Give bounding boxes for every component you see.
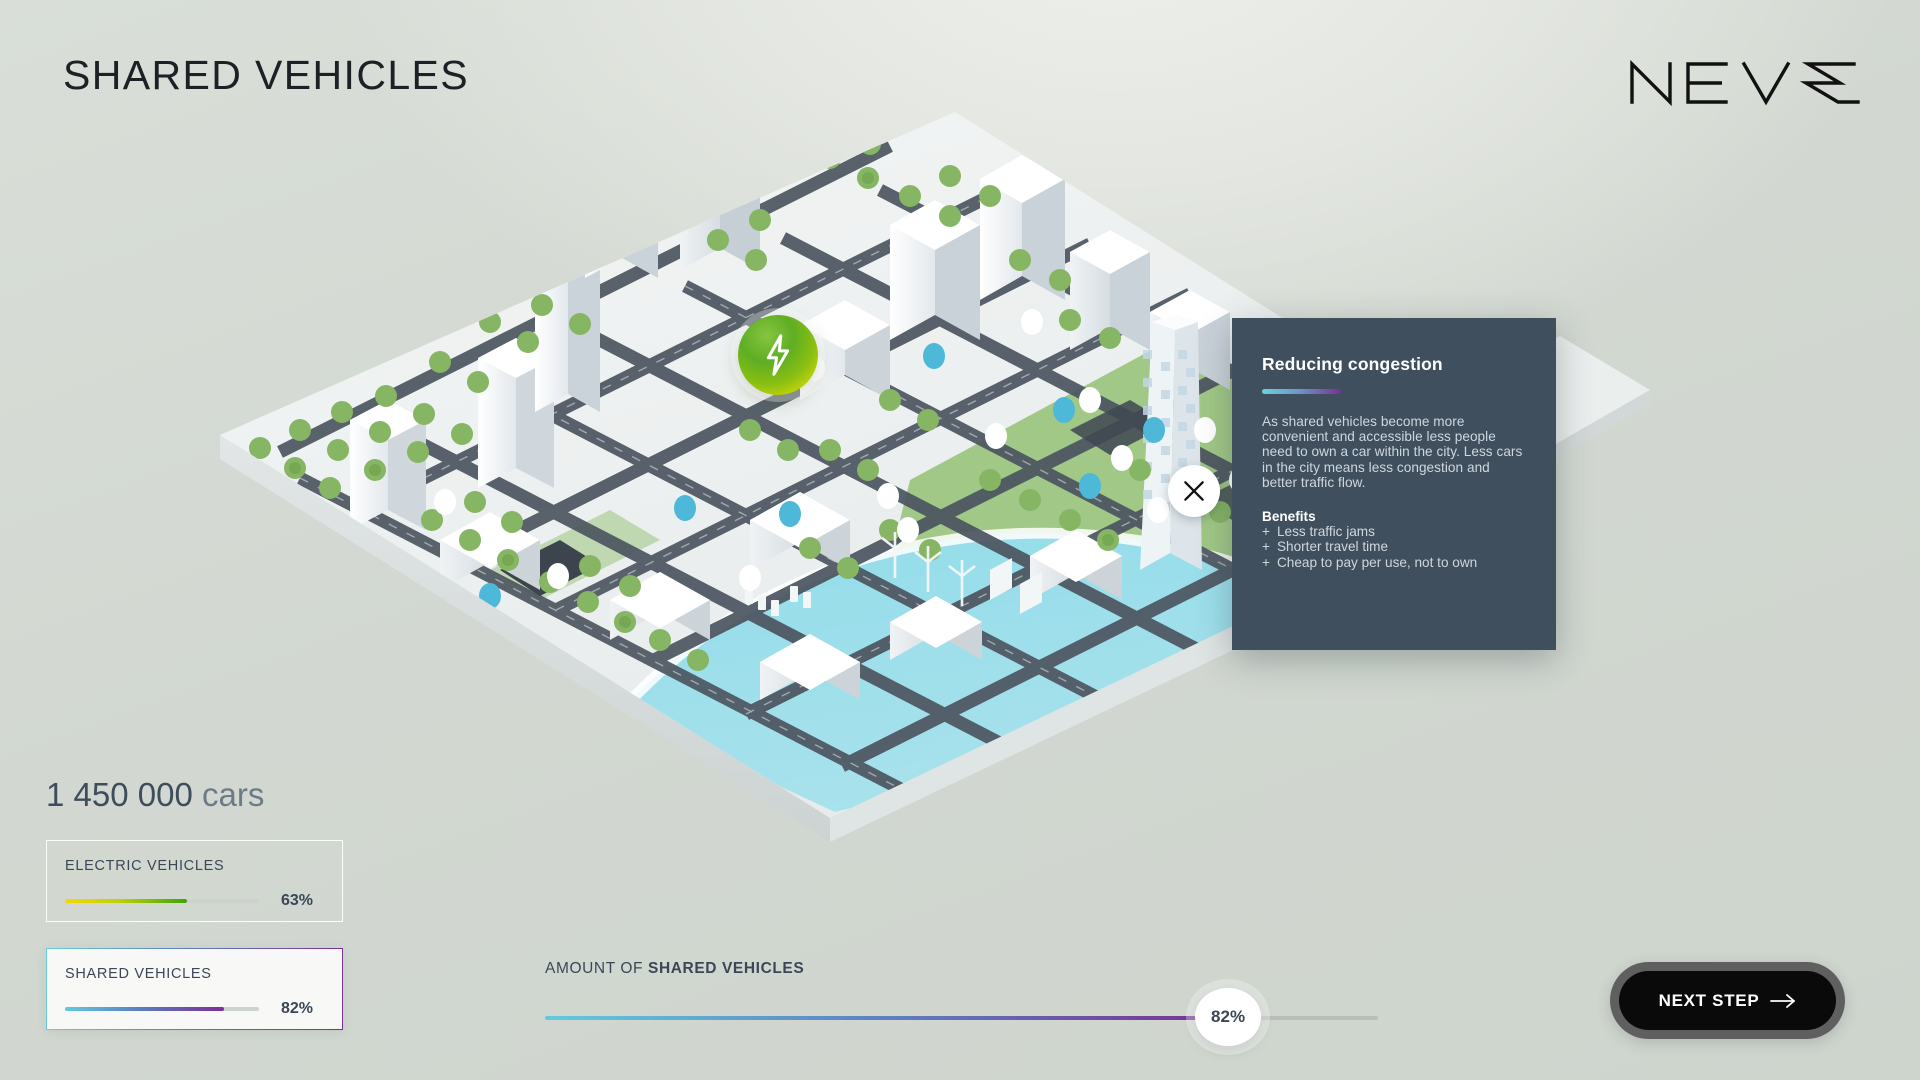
info-panel-body: As shared vehicles become more convenien… [1262, 414, 1526, 490]
plus-icon: + [1262, 555, 1270, 570]
benefit-label: Shorter travel time [1277, 539, 1388, 554]
stat-progress-fill [65, 1007, 224, 1011]
stat-percent-label: 82% [281, 1000, 313, 1018]
shared-vehicles-slider-block: AMOUNT OF SHARED VEHICLES 82% [545, 960, 1380, 1022]
benefits-list: + Less traffic jams + Shorter travel tim… [1262, 524, 1526, 570]
slider-thumb[interactable]: 82% [1195, 988, 1261, 1046]
total-cars-unit: cars [202, 776, 264, 813]
plus-icon: + [1262, 539, 1270, 554]
slider-caption-strong: SHARED VEHICLES [648, 960, 804, 977]
slider-wrap[interactable]: 82% [545, 1014, 1380, 1022]
slider-caption: AMOUNT OF SHARED VEHICLES [545, 960, 1380, 978]
plus-icon: + [1262, 524, 1270, 539]
stat-card-shared-vehicles[interactable]: SHARED VEHICLES 82% [46, 948, 343, 1030]
lightning-bolt-icon [761, 333, 795, 377]
slider-caption-prefix: AMOUNT OF [545, 960, 648, 977]
benefits-heading: Benefits [1262, 509, 1526, 524]
benefit-label: Cheap to pay per use, not to own [1277, 555, 1477, 570]
stat-bar-row: 63% [65, 892, 324, 910]
charging-station-marker[interactable] [738, 315, 818, 395]
benefit-item: + Shorter travel time [1262, 539, 1526, 554]
close-x-icon [1181, 478, 1207, 504]
info-panel-title: Reducing congestion [1262, 354, 1526, 375]
slider-fill [545, 1016, 1228, 1020]
total-cars-readout: 1 450 000 cars [46, 776, 264, 814]
page-title: SHARED VEHICLES [63, 52, 469, 99]
stat-progress-track [65, 899, 259, 903]
benefit-item: + Cheap to pay per use, not to own [1262, 555, 1526, 570]
stat-bar-row: 82% [65, 1000, 324, 1018]
stat-card-label: SHARED VEHICLES [65, 966, 324, 982]
total-cars-value: 1 450 000 [46, 776, 193, 813]
stat-progress-track [65, 1007, 259, 1011]
next-step-label: NEXT STEP [1659, 991, 1760, 1011]
next-step-button[interactable]: NEXT STEP [1610, 962, 1845, 1039]
benefit-item: + Less traffic jams [1262, 524, 1526, 539]
stat-card-label: ELECTRIC VEHICLES [65, 858, 324, 874]
info-panel-accent-bar [1262, 389, 1341, 394]
stat-card-electric-vehicles[interactable]: ELECTRIC VEHICLES 63% [46, 840, 343, 922]
close-marker-button[interactable] [1168, 465, 1220, 517]
stat-percent-label: 63% [281, 892, 313, 910]
stat-progress-fill [65, 899, 187, 903]
arrow-right-icon [1770, 993, 1796, 1009]
benefit-label: Less traffic jams [1277, 524, 1375, 539]
info-panel: Reducing congestion As shared vehicles b… [1232, 318, 1556, 650]
